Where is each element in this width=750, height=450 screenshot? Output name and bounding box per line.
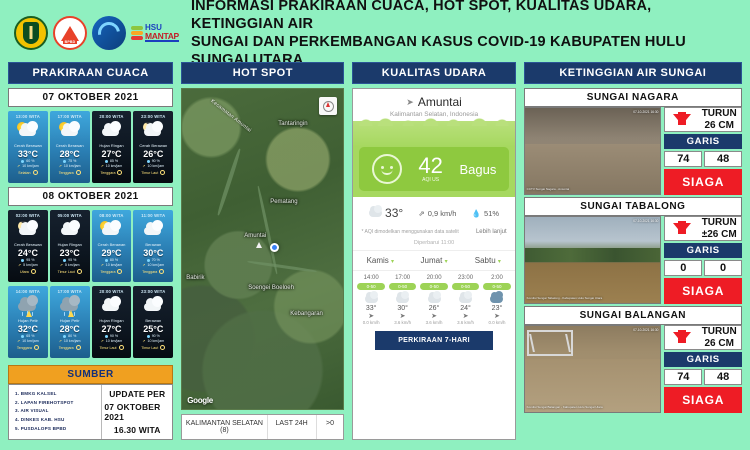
river-station: SUNGAI BALANGAN 07-10-2021 16:30 Kondisi… [524, 306, 742, 413]
river-station-name: SUNGAI BALANGAN [524, 306, 742, 325]
weather-moon-cloud-icon [135, 120, 171, 142]
weather-card-wind: ⇗10 km/jam [135, 165, 171, 169]
aqi-face-icon [372, 154, 402, 184]
weather-card-time: 20:00 WITA [94, 114, 130, 119]
river-garis-value-a: 0 [664, 260, 702, 276]
sumber-section: SUMBER 1. BMKG KALSEL2. LAPAN FIREHOTSPO… [8, 365, 173, 440]
weather-cloud-icon [94, 295, 130, 317]
forecast-7day-button[interactable]: PERKIRAAN 7-HARI [375, 331, 492, 350]
weather-card: 02:00 WITA Cerah Berawan 24°C 95 % ⇗5 km… [8, 210, 48, 282]
air-quality-day-tab[interactable]: Jumat ▾ [407, 251, 461, 270]
weather-card-wind: ⇗10 km/jam [52, 340, 88, 344]
weather-card-condition: Cerah Berawan [10, 144, 46, 148]
weather-panel-title: PRAKIRAAN CUACA [8, 62, 173, 84]
air-quality-updated: Diperbarui 11:00 [353, 237, 514, 250]
weather-storm-icon [10, 295, 46, 317]
sumber-update-label: UPDATE PER [109, 389, 165, 399]
chevron-down-icon: ▾ [445, 259, 448, 265]
air-quality-hour-column: 20:00 0-50 26° ➤ 3.6 km/h [418, 275, 449, 325]
weather-card-time: 17:00 WITA [52, 114, 88, 119]
hotspot-map[interactable]: Kecamatan Amuntai Tantaringin Pematang A… [181, 88, 344, 410]
sumber-list-item: 2. LAPAN FIREHOTSPOT [15, 399, 97, 408]
weather-card: 23:00 WITA Cerah Berawan 26°C 90 % ⇗10 k… [133, 111, 173, 183]
hour-wind-speed: 3.6 km/h [387, 320, 418, 325]
air-quality-metrics: 33° ⇗ 0,9 km/h 💧 51% [359, 201, 508, 225]
photo-timestamp: 07-10-2021 16:30 [633, 110, 658, 114]
river-status-badge: SIAGA [664, 387, 742, 413]
hour-wind-direction-icon: ➤ [387, 312, 418, 320]
weather-card-condition: Cerah Berawan [135, 144, 171, 148]
page-title-line-1: INFORMASI PRAKIRAAN CUACA, HOT SPOT, KUA… [191, 0, 740, 33]
weather-card-wind-direction: Timur Laut [135, 345, 171, 350]
air-quality-hour-column: 23:00 0-50 24° ➤ 3.6 km/h [450, 275, 481, 325]
map-label-babirik: Babirik [186, 275, 204, 281]
weather-card: 17:00 WITA Hujan Petir 28°C 80 % ⇗10 km/… [50, 286, 90, 358]
hotspot-period-filter[interactable]: LAST 24H [268, 415, 317, 439]
sumber-update-time: 16.30 WITA [114, 425, 161, 435]
river-trend-block: TURUN26 CM [664, 325, 742, 350]
hour-time: 23:00 [450, 275, 481, 281]
weather-card-temperature: 23°C [52, 248, 88, 258]
river-trend-text: TURUN26 CM [699, 108, 741, 131]
map-label-kebangaran: Kebangaran [290, 311, 323, 317]
map-label-soengei-boeloeh: Soengei Boeloeh [248, 285, 294, 292]
river-garis-value-b: 48 [704, 151, 742, 167]
weather-card-wind-direction: Tenggara [94, 170, 130, 175]
weather-card-wind-direction: Tenggara [10, 345, 46, 350]
cloud-icon [369, 209, 382, 217]
kabupaten-hsu-logo-icon [14, 16, 48, 50]
river-status-badge: SIAGA [664, 278, 742, 304]
hour-time: 17:00 [387, 275, 418, 281]
weather-card: 11:00 WITA Berawan 30°C 70 % ⇗10 km/jam … [133, 210, 173, 282]
river-trend-block: TURUN26 CM [664, 107, 742, 132]
hour-wind-speed: 0.0 km/h [355, 320, 386, 325]
weather-card-wind: ⇗10 km/jam [52, 165, 88, 169]
weather-card-temperature: 33°C [10, 149, 46, 159]
weather-card-time: 17:00 WITA [52, 289, 88, 294]
river-camera-photo[interactable]: 07-10-2021 16:30 CCTV Sungai Nagara - Am… [524, 107, 662, 195]
weather-card-condition: Berawan [135, 319, 171, 323]
photo-caption: Kondisi Sungai Balangan - Kabupaten Hulu… [527, 406, 659, 410]
weather-storm-icon [52, 295, 88, 317]
weather-card-wind: ⇗10 km/jam [135, 340, 171, 344]
hour-cloud-icon [418, 292, 449, 305]
weather-card: 05:00 WITA Hujan Ringan 23°C 95 % ⇗5 km/… [50, 210, 90, 282]
hour-wind-direction-icon: ➤ [355, 312, 386, 320]
sumber-update-date: 07 OKTOBER 2021 [104, 402, 170, 422]
weather-card-wind-direction: Tenggara [94, 269, 130, 274]
weather-card: 20:00 WITA Hujan Ringan 27°C 90 % ⇗10 km… [92, 286, 132, 358]
air-quality-day-tab[interactable]: Sabtu ▾ [461, 251, 515, 270]
hour-wind-direction-icon: ➤ [450, 312, 481, 320]
weather-cloud-icon [135, 219, 171, 241]
weather-day2-row-b: 14:00 WITA Hujan Petir 32°C 65 % ⇗10 km/… [8, 286, 173, 358]
weather-cloud-icon [94, 120, 130, 142]
river-garis-values: 74 48 [664, 369, 742, 385]
hotspot-panel-title: HOT SPOT [181, 62, 344, 84]
weather-day1-row: 13:00 WITA Cerah Berawan 33°C 60 % ⇗10 k… [8, 111, 173, 183]
river-garis-values: 0 0 [664, 260, 742, 276]
weather-card: 17:00 WITA Cerah Berawan 28°C 75 % ⇗10 k… [50, 111, 90, 183]
hour-aqi-badge: 0-50 [389, 283, 416, 290]
hour-temperature: 26° [418, 305, 449, 312]
weather-card-condition: Hujan Ringan [94, 144, 130, 148]
weather-sun-cloud-icon [10, 120, 46, 142]
weather-card-condition: Hujan Petir [10, 319, 46, 323]
weather-card-time: 20:00 WITA [94, 289, 130, 294]
weather-card-condition: Cerah Berawan [94, 243, 130, 247]
river-garis-label: GARIS [664, 352, 742, 367]
weather-card-time: 08:00 WITA [94, 213, 130, 218]
sumber-list: 1. BMKG KALSEL2. LAPAN FIREHOTSPOT3. AIR… [9, 385, 101, 439]
hour-wind-direction-icon: ➤ [418, 312, 449, 320]
weather-card: 14:00 WITA Hujan Petir 32°C 65 % ⇗10 km/… [8, 286, 48, 358]
weather-card-condition: Hujan Ringan [52, 243, 88, 247]
air-quality-hour-column: 14:00 0-50 33° ➤ 0.0 km/h [355, 275, 386, 325]
weather-card-condition: Hujan Petir [52, 319, 88, 323]
hsu-mantap-logo-icon: HSU MANTAP [131, 24, 179, 43]
sumber-list-item: 3. AIR VISUAL [15, 407, 97, 416]
weather-card-time: 02:00 WITA [10, 213, 46, 218]
weather-card-temperature: 27°C [94, 149, 130, 159]
weather-cloud-icon [52, 219, 88, 241]
sumber-update-block: UPDATE PER 07 OKTOBER 2021 16.30 WITA [101, 385, 172, 439]
weather-card-wind: ⇗5 km/jam [10, 264, 46, 268]
river-trend-text: TURUN26 CM [699, 326, 741, 349]
river-garis-value-a: 74 [664, 369, 702, 385]
air-quality-main-block: 42 AQI US Bagus [353, 147, 514, 197]
weather-panel: PRAKIRAAN CUACA 07 OKTOBER 2021 13:00 WI… [8, 62, 173, 440]
logo-group: BPBD HSU MANTAP [14, 16, 179, 50]
sumber-list-item: 1. BMKG KALSEL [15, 390, 97, 399]
chevron-down-icon: ▾ [391, 259, 394, 265]
weather-card-wind: ⇗10 km/jam [94, 165, 130, 169]
weather-sun-cloud-icon [94, 219, 130, 241]
river-garis-label: GARIS [664, 243, 742, 258]
map-label-tantaringin: Tantaringin [278, 121, 307, 127]
map-satellite-imagery [182, 89, 343, 409]
river-station: SUNGAI TABALONG 07-10-2021 16:30 Kondisi… [524, 197, 742, 304]
weather-card-temperature: 32°C [10, 324, 46, 334]
weather-card-wind: ⇗10 km/jam [135, 264, 171, 268]
air-quality-hourly-forecast: 14:00 0-50 33° ➤ 0.0 km/h 17:00 0-50 30°… [353, 270, 514, 327]
river-garis-values: 74 48 [664, 151, 742, 167]
hour-temperature: 23° [481, 305, 512, 312]
weather-card: 20:00 WITA Hujan Ringan 27°C 85 % ⇗10 km… [92, 111, 132, 183]
bpbd-logo-icon: BPBD [53, 16, 87, 50]
hour-rain-icon [481, 292, 512, 305]
river-station: SUNGAI NAGARA 07-10-2021 16:30 CCTV Sung… [524, 88, 742, 195]
metric-temperature-value: 33° [385, 206, 403, 220]
hour-wind-speed: 3.6 km/h [418, 320, 449, 325]
weather-day2-row-a: 02:00 WITA Cerah Berawan 24°C 95 % ⇗5 km… [8, 210, 173, 282]
weather-card-wind: ⇗10 km/jam [10, 340, 46, 344]
river-level-panel: KETINGGIAN AIR SUNGAI SUNGAI NAGARA 07-1… [524, 62, 742, 440]
air-quality-header: ➤ Amuntai Kalimantan Selatan, Indonesia [353, 89, 514, 118]
hour-temperature: 33° [355, 305, 386, 312]
river-garis-label: GARIS [664, 134, 742, 149]
aqi-summary: 42 AQI US Bagus [359, 147, 508, 191]
river-garis-value-b: 48 [704, 369, 742, 385]
weather-card: 08:00 WITA Cerah Berawan 29°C 80 % ⇗10 k… [92, 210, 132, 282]
weather-card-temperature: 30°C [135, 248, 171, 258]
hour-temperature: 24° [450, 305, 481, 312]
map-marker-amuntai-icon [256, 242, 262, 248]
sumber-title: SUMBER [8, 365, 173, 384]
river-camera-photo[interactable]: 07-10-2021 16:30 Kondisi Sungai Tabalong… [524, 216, 662, 304]
weather-card-temperature: 26°C [135, 149, 171, 159]
river-garis-value-a: 74 [664, 151, 702, 167]
hour-time: 14:00 [355, 275, 386, 281]
google-attribution: Google [187, 396, 213, 405]
chevron-down-icon: ▾ [498, 259, 501, 265]
map-compass-icon[interactable] [319, 97, 337, 115]
weather-card-temperature: 27°C [94, 324, 130, 334]
arrow-down-icon [665, 114, 699, 125]
weather-day2-date: 08 OKTOBER 2021 [8, 187, 173, 206]
weather-card-condition: Berawan [135, 243, 171, 247]
arrow-down-icon [665, 223, 699, 234]
weather-moon-cloud-icon [10, 219, 46, 241]
weather-card-time: 13:00 WITA [10, 114, 46, 119]
weather-sun-cloud-icon [52, 120, 88, 142]
hour-temperature: 30° [387, 305, 418, 312]
page-header: BPBD HSU MANTAP INFORMASI PRAKIRAAN CUAC… [0, 0, 750, 62]
weather-card-wind: ⇗10 km/jam [10, 165, 46, 169]
hotspot-filter-bar: KALIMANTAN SELATAN (8) LAST 24H >0 [181, 414, 344, 440]
hour-cloud-icon [387, 292, 418, 305]
weather-card-condition: Cerah Berawan [10, 243, 46, 247]
arrow-down-icon [665, 332, 699, 343]
weather-card: 23:00 WITA Berawan 25°C 90 % ⇗10 km/jam … [133, 286, 173, 358]
dashboard-columns: PRAKIRAAN CUACA 07 OKTOBER 2021 13:00 WI… [0, 62, 750, 440]
weather-card-temperature: 24°C [10, 248, 46, 258]
air-quality-day-tab[interactable]: Kamis ▾ [353, 251, 407, 270]
map-label-amuntai: Amuntai [244, 233, 266, 239]
weather-card-wind-direction: Timur Laut [135, 170, 171, 175]
photo-caption: Kondisi Sungai Tabalong - Kabupaten Hulu… [527, 297, 659, 301]
page-title: INFORMASI PRAKIRAAN CUACA, HOT SPOT, KUA… [187, 0, 740, 69]
weather-card-time: 23:00 WITA [135, 289, 171, 294]
weather-card-wind: ⇗10 km/jam [94, 340, 130, 344]
photo-timestamp: 07-10-2021 16:30 [633, 328, 658, 332]
hour-aqi-badge: 0-50 [420, 283, 447, 290]
weather-card-wind-direction: Tenggara [52, 345, 88, 350]
weather-card: 13:00 WITA Cerah Berawan 33°C 60 % ⇗10 k… [8, 111, 48, 183]
weather-card-time: 11:00 WITA [135, 213, 171, 218]
hotspot-region-filter[interactable]: KALIMANTAN SELATAN (8) [182, 415, 267, 439]
air-quality-note: * AQI dimodelkan menggunakan data sateli… [361, 229, 458, 235]
hour-time: 2:00 [481, 275, 512, 281]
bmkg-logo-icon [92, 16, 126, 50]
sumber-list-item: 4. DINKES KAB. HSU [15, 416, 97, 425]
weather-card-wind: ⇗10 km/jam [94, 264, 130, 268]
hour-time: 20:00 [418, 275, 449, 281]
river-trend-text: TURUN±26 CM [699, 217, 741, 240]
dashboard-root: BPBD HSU MANTAP INFORMASI PRAKIRAAN CUAC… [0, 0, 750, 450]
river-garis-value-b: 0 [704, 260, 742, 276]
hour-wind-speed: 3.6 km/h [450, 320, 481, 325]
air-quality-card: ➤ Amuntai Kalimantan Selatan, Indonesia … [352, 88, 515, 440]
weather-card-wind-direction: Selatan [10, 170, 46, 175]
weather-card-wind: ⇗5 km/jam [52, 264, 88, 268]
hour-cloud-icon [355, 292, 386, 305]
weather-cloud-icon [135, 295, 171, 317]
metric-temperature: 33° [369, 206, 403, 220]
hotspot-threshold-filter[interactable]: >0 [317, 415, 344, 439]
skyline-decoration [353, 121, 514, 147]
metric-humidity-value: 51% [484, 209, 499, 218]
weather-card-condition: Cerah Berawan [52, 144, 88, 148]
river-panel-title: KETINGGIAN AIR SUNGAI [524, 62, 742, 84]
weather-card-wind-direction: Timur Laut [52, 269, 88, 274]
weather-card-condition: Hujan Ringan [94, 319, 130, 323]
hour-aqi-badge: 0-50 [357, 283, 384, 290]
air-quality-note-row: * AQI dimodelkan menggunakan data sateli… [353, 225, 514, 237]
weather-card-temperature: 28°C [52, 324, 88, 334]
photo-timestamp: 07-10-2021 16:30 [633, 219, 658, 223]
metric-humidity: 💧 51% [472, 209, 499, 218]
metric-wind-value: 0,9 km/h [428, 209, 457, 218]
hour-wind-speed: 0.0 km/h [481, 320, 512, 325]
air-quality-more-link[interactable]: Lebih lanjut [476, 229, 507, 235]
river-station-name: SUNGAI NAGARA [524, 88, 742, 107]
aqi-value-block: 42 AQI US [418, 155, 442, 183]
air-quality-hour-column: 2:00 0-50 23° ➤ 0.0 km/h [481, 275, 512, 325]
air-quality-panel: KUALITAS UDARA ➤ Amuntai Kalimantan Sela… [352, 62, 515, 440]
weather-card-wind-direction: Tenggara [52, 170, 88, 175]
weather-card-wind-direction: Timur Laut [94, 345, 130, 350]
mantap-logo-bottom: MANTAP [145, 32, 179, 43]
river-station-name: SUNGAI TABALONG [524, 197, 742, 216]
aqi-value: 42 [418, 155, 442, 177]
weather-card-wind-direction: Utara [10, 269, 46, 274]
sumber-list-item: 5. PUSDALOPS BPBD [15, 425, 97, 434]
hour-aqi-badge: 0-50 [452, 283, 479, 290]
river-status-badge: SIAGA [664, 169, 742, 195]
air-quality-city-row: ➤ Amuntai [357, 95, 510, 109]
metric-wind: ⇗ 0,9 km/h [418, 209, 456, 218]
photo-caption: CCTV Sungai Nagara - Amuntai [527, 188, 659, 192]
wind-icon: ⇗ [418, 209, 424, 218]
weather-card-temperature: 25°C [135, 324, 171, 334]
river-trend-block: TURUN±26 CM [664, 216, 742, 241]
river-camera-photo[interactable]: 07-10-2021 16:30 Kondisi Sungai Balangan… [524, 325, 662, 413]
hour-cloud-icon [450, 292, 481, 305]
location-arrow-icon: ➤ [406, 97, 414, 108]
weather-day1-date: 07 OKTOBER 2021 [8, 88, 173, 107]
air-quality-hour-column: 17:00 0-50 30° ➤ 3.6 km/h [387, 275, 418, 325]
weather-card-time: 23:00 WITA [135, 114, 171, 119]
aqi-unit: AQI US [418, 177, 442, 183]
aqi-label: Bagus [459, 162, 496, 177]
weather-card-time: 14:00 WITA [10, 289, 46, 294]
weather-card-temperature: 29°C [94, 248, 130, 258]
river-stations: SUNGAI NAGARA 07-10-2021 16:30 CCTV Sung… [524, 88, 742, 413]
weather-card-temperature: 28°C [52, 149, 88, 159]
air-quality-day-tabs: Kamis ▾Jumat ▾Sabtu ▾ [353, 250, 514, 270]
air-quality-city: Amuntai [418, 95, 462, 109]
weather-card-time: 05:00 WITA [52, 213, 88, 218]
weather-card-wind-direction: Tenggara [135, 269, 171, 274]
droplet-icon: 💧 [472, 209, 481, 218]
map-label-pematang: Pematang [270, 199, 297, 205]
hour-aqi-badge: 0-50 [483, 283, 510, 290]
hour-wind-direction-icon: ➤ [481, 312, 512, 320]
hotspot-panel: HOT SPOT Kecamatan Amuntai Tantaringin P… [181, 62, 344, 440]
air-quality-panel-title: KUALITAS UDARA [352, 62, 515, 84]
